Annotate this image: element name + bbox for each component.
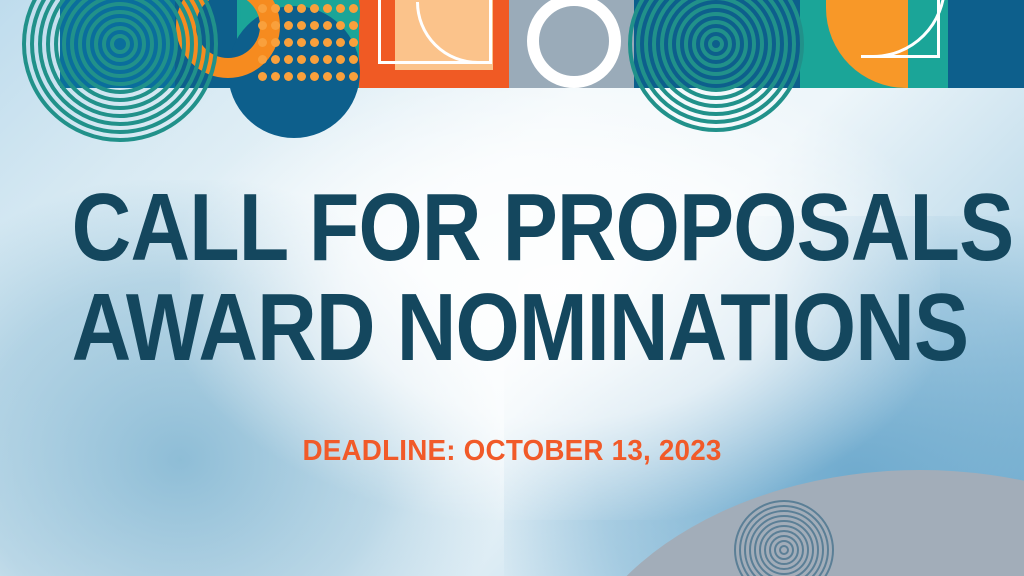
orange-dot	[323, 38, 332, 47]
concentric-rings-bottom-right-icon	[734, 500, 834, 576]
orange-dot	[310, 55, 319, 64]
orange-dot	[336, 72, 345, 81]
orange-dot	[336, 38, 345, 47]
orange-dot	[310, 21, 319, 30]
orange-dot	[336, 4, 345, 13]
orange-dot	[258, 38, 267, 47]
orange-dot	[258, 4, 267, 13]
headline-block: CALL FOR PROPOSALS & AWARD NOMINATIONS	[0, 178, 1024, 378]
orange-dot	[271, 55, 280, 64]
orange-dot	[258, 55, 267, 64]
orange-dot-grid-icon	[258, 4, 362, 84]
orange-dot	[271, 4, 280, 13]
orange-dot	[349, 4, 358, 13]
banner-tile-blue-end-square	[948, 0, 1024, 88]
orange-dot	[271, 21, 280, 30]
banner-tile-deep-blue-square	[634, 0, 800, 88]
orange-dot	[271, 38, 280, 47]
ring-stroke	[779, 545, 789, 555]
orange-dot	[284, 4, 293, 13]
orange-dot	[310, 4, 319, 13]
orange-dot	[349, 38, 358, 47]
headline-line-2: AWARD NOMINATIONS	[72, 278, 953, 378]
orange-dot	[284, 55, 293, 64]
orange-dot	[310, 38, 319, 47]
orange-dot	[297, 4, 306, 13]
decorative-header-banner	[0, 0, 1024, 88]
orange-dot	[336, 21, 345, 30]
orange-dot	[284, 21, 293, 30]
orange-dot	[297, 38, 306, 47]
orange-dot	[310, 72, 319, 81]
orange-dot	[323, 72, 332, 81]
orange-dot	[349, 55, 358, 64]
orange-dot	[323, 21, 332, 30]
orange-dot	[271, 72, 280, 81]
deadline-text: DEADLINE: OCTOBER 13, 2023	[20, 435, 1003, 468]
orange-dot	[258, 72, 267, 81]
poster-canvas: CALL FOR PROPOSALS & AWARD NOMINATIONS D…	[0, 0, 1024, 576]
orange-dot	[258, 21, 267, 30]
orange-dot	[297, 55, 306, 64]
headline-line-1: CALL FOR PROPOSALS &	[72, 178, 953, 278]
orange-dot	[349, 72, 358, 81]
orange-dot	[284, 72, 293, 81]
orange-dot	[297, 21, 306, 30]
orange-dot	[349, 21, 358, 30]
orange-dot	[323, 4, 332, 13]
banner-tile-blue-square	[60, 0, 175, 88]
orange-dot	[297, 72, 306, 81]
orange-dot	[336, 55, 345, 64]
orange-dot	[323, 55, 332, 64]
orange-dot	[284, 38, 293, 47]
